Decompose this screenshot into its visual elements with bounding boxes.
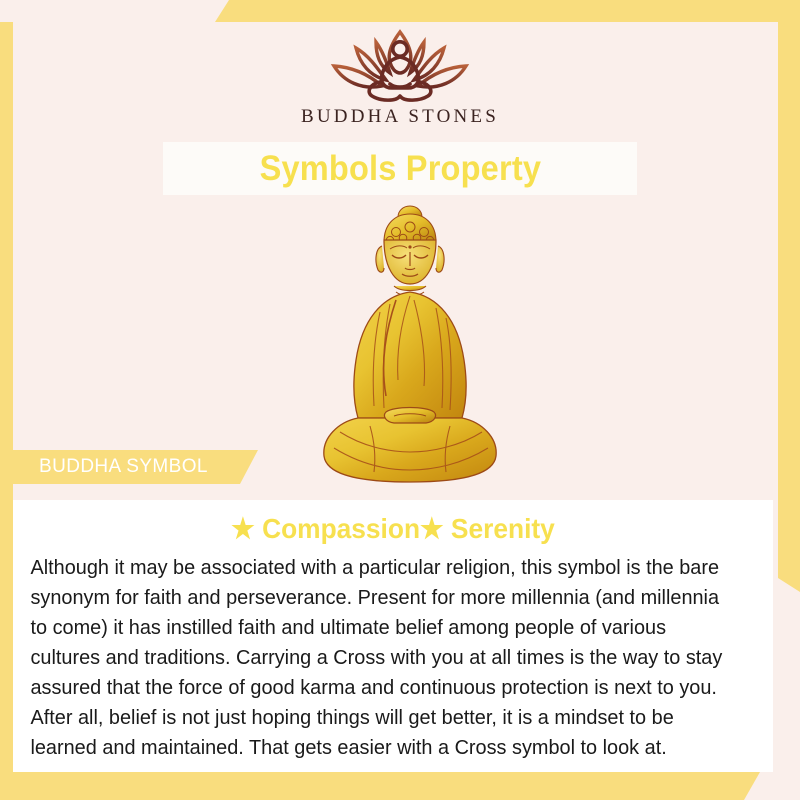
brand-name: BUDDHA STONES bbox=[301, 106, 499, 128]
lotus-meditation-figure-icon bbox=[310, 22, 490, 104]
poster-page: BUDDHA STONES Symbols Property bbox=[0, 0, 800, 800]
buddha-statue-image bbox=[310, 200, 510, 495]
page-title: Symbols Property bbox=[259, 149, 541, 189]
symbol-tag: BUDDHA SYMBOL bbox=[13, 450, 258, 484]
title-banner: Symbols Property bbox=[163, 142, 637, 195]
content-card: ★ Compassion★ Serenity Although it may b… bbox=[13, 500, 773, 772]
decorative-band-bottom bbox=[0, 772, 760, 800]
section-body-text: Although it may be associated with a par… bbox=[13, 545, 750, 763]
symbol-tag-label: BUDDHA SYMBOL bbox=[13, 456, 208, 478]
section-subheading: ★ Compassion★ Serenity bbox=[36, 500, 750, 545]
brand-logo: BUDDHA STONES bbox=[0, 22, 800, 140]
decorative-band-top bbox=[215, 0, 800, 22]
seated-golden-buddha-statue-icon bbox=[310, 200, 510, 495]
